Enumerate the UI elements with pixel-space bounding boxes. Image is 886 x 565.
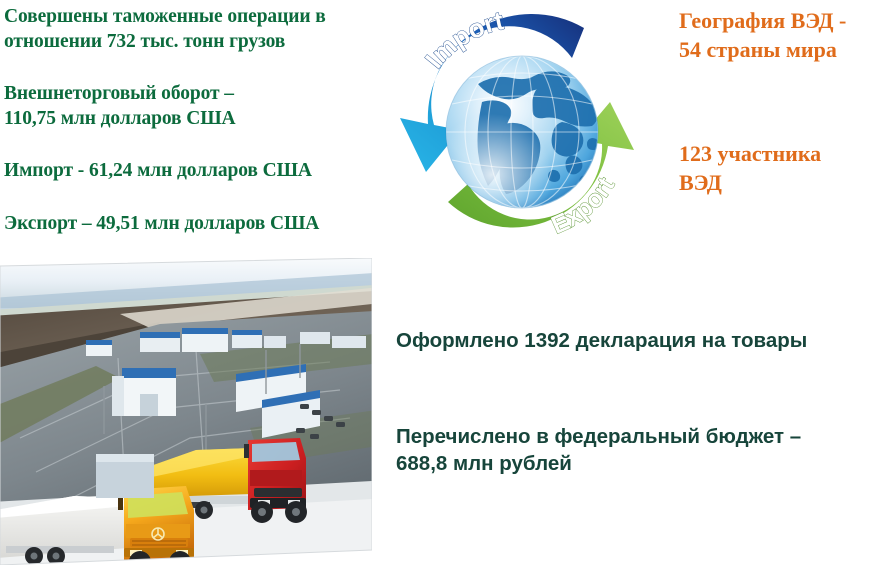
- stat-budget: Перечислено в федеральный бюджет – 688,8…: [396, 423, 866, 477]
- stat-trade-turnover: Внешнеторговый оборот – 110,75 млн долла…: [4, 81, 388, 131]
- left-statistics-block: Совершены таможенные операции в отношени…: [4, 4, 388, 236]
- grey-container: [96, 458, 154, 498]
- globe-icon: [446, 56, 599, 208]
- stat-export-value: Экспорт – 49,51 млн долларов США: [4, 211, 388, 236]
- stat-import-value: Импорт - 61,24 млн долларов США: [4, 158, 388, 183]
- stat-participants-ved: 123 участника ВЭД: [679, 139, 879, 197]
- slide-root: Совершены таможенные операции в отношени…: [0, 0, 886, 565]
- photo-canvas: [0, 258, 372, 565]
- stat-declarations: Оформлено 1392 декларация на товары: [396, 327, 876, 354]
- import-export-globe-graphic: Import Export: [386, 6, 656, 261]
- stat-geography-ved: География ВЭД - 54 страны мира: [679, 6, 886, 64]
- container-roof: [96, 454, 154, 462]
- border-checkpoint-photo: [0, 258, 372, 565]
- stat-cargo-volume: Совершены таможенные операции в отношени…: [4, 4, 388, 54]
